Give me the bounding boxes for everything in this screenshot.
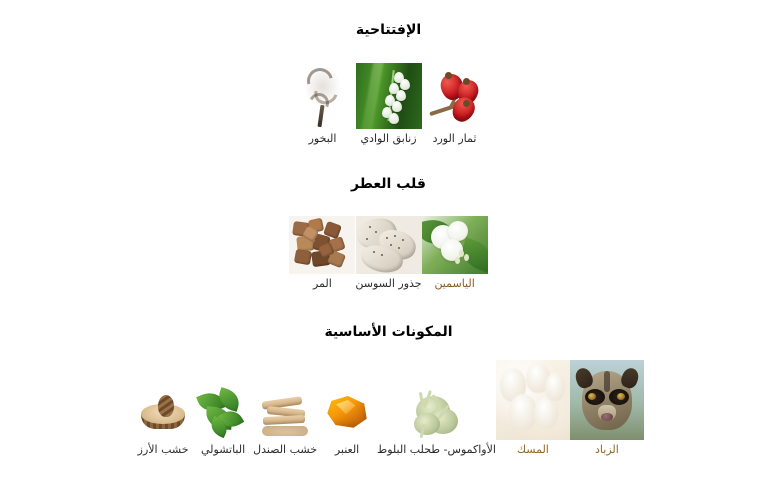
cedar-wood-photo[interactable] (136, 386, 190, 440)
note-item-civet[interactable]: الزباد (570, 360, 644, 456)
lily-of-the-valley-photo[interactable] (356, 63, 422, 129)
note-label-civet: الزباد (595, 440, 619, 456)
note-label-myrrh: المر (313, 274, 332, 290)
section-heart-notes: قلب العطر الياسمين (0, 176, 777, 290)
note-label-lily-of-the-valley: زنابق الوادي (360, 129, 416, 145)
note-label-patchouli: الباتشولي (201, 440, 245, 456)
musk-fur-photo[interactable] (496, 360, 570, 440)
note-item-incense[interactable]: البخور (290, 63, 356, 145)
section-top-notes: الإفتتاحية ثمار الورد (0, 22, 777, 145)
note-label-amber: العنبر (335, 440, 359, 456)
note-item-oakmoss[interactable]: الأواكموس- طحلب البلوط (377, 386, 496, 456)
note-item-iris-root[interactable]: جذور السوسن (355, 216, 421, 290)
patchouli-leaves-photo[interactable] (196, 386, 250, 440)
note-label-rose-hips: ثمار الورد (433, 129, 477, 145)
note-label-oakmoss: الأواكموس- طحلب البلوط (377, 440, 496, 456)
note-label-incense: البخور (309, 129, 337, 145)
rose-hips-photo[interactable] (422, 63, 488, 129)
note-label-iris-root: جذور السوسن (355, 274, 421, 290)
row-heart-notes: الياسمين (0, 216, 777, 290)
incense-smoke-photo[interactable] (290, 63, 356, 129)
note-label-sandalwood: خشب الصندل (253, 440, 317, 456)
note-item-cedar[interactable]: خشب الأرز (133, 386, 193, 456)
jasmine-flower-photo[interactable] (422, 216, 488, 274)
row-base-notes: الزباد المسك (0, 360, 777, 456)
iris-root-photo[interactable] (356, 216, 422, 274)
note-item-sandalwood[interactable]: خشب الصندل (253, 386, 317, 456)
note-item-patchouli[interactable]: الباتشولي (193, 386, 253, 456)
note-item-amber[interactable]: العنبر (317, 386, 377, 456)
perfume-notes-page: الإفتتاحية ثمار الورد (0, 22, 777, 496)
note-item-myrrh[interactable]: المر (289, 216, 355, 290)
amber-resin-photo[interactable] (320, 386, 374, 440)
heading-heart-notes: قلب العطر (0, 176, 777, 192)
note-label-jasmine: الياسمين (434, 274, 474, 290)
note-label-cedar: خشب الأرز (138, 440, 189, 456)
row-top-notes: ثمار الورد زنابق الوادي (0, 63, 777, 145)
heading-base-notes: المكونات الأساسية (0, 324, 777, 340)
oakmoss-lichen-photo[interactable] (409, 386, 463, 440)
myrrh-resin-photo[interactable] (289, 216, 355, 274)
civet-animal-photo[interactable] (570, 360, 644, 440)
note-item-jasmine[interactable]: الياسمين (422, 216, 488, 290)
note-label-musk: المسك (517, 440, 549, 456)
heading-top-notes: الإفتتاحية (0, 22, 777, 38)
note-item-musk[interactable]: المسك (496, 360, 570, 456)
note-item-rose-hips[interactable]: ثمار الورد (422, 63, 488, 145)
note-item-lily-of-the-valley[interactable]: زنابق الوادي (356, 63, 422, 145)
sandalwood-sticks-photo[interactable] (258, 386, 312, 440)
section-base-notes: المكونات الأساسية (0, 324, 777, 456)
